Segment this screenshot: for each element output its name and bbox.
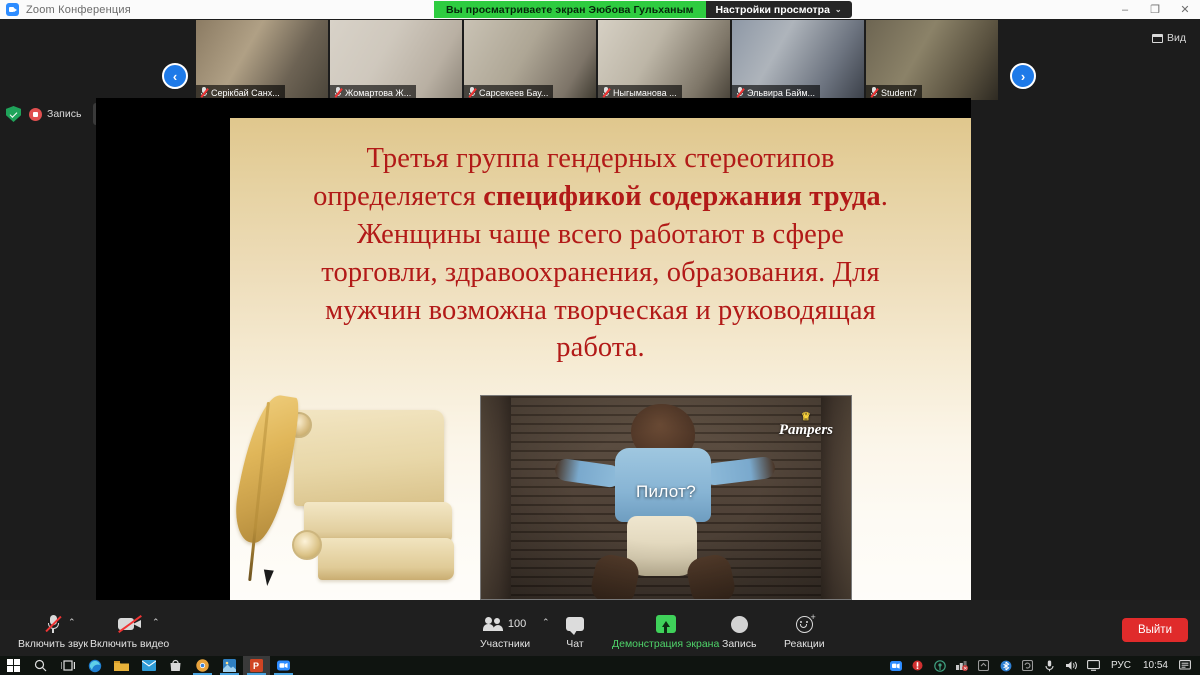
record-label: Запись [722, 638, 756, 650]
participant-name: Жомартова Ж... [345, 88, 411, 98]
bluetooth-tray-icon[interactable] [995, 656, 1017, 675]
zoom-meeting-window: Zoom Конференция – ❐ ✕ Вы просматриваете… [0, 0, 1200, 675]
language-indicator[interactable]: РУС [1105, 660, 1137, 671]
start-button[interactable] [0, 656, 27, 675]
slide-line-1: Третья группа гендерных стереотипов [254, 140, 947, 178]
file-explorer-icon[interactable] [108, 656, 135, 675]
chrome-icon[interactable] [189, 656, 216, 675]
alert-tray-icon[interactable] [907, 656, 929, 675]
update-tray-icon[interactable] [973, 656, 995, 675]
svg-text:✕: ✕ [963, 666, 967, 671]
mic-muted-icon [46, 613, 60, 635]
reactions-label: Реакции [784, 638, 825, 650]
mic-muted-icon [334, 87, 342, 98]
video-thumbnail[interactable]: Ныгыманова ... [598, 20, 730, 100]
record-circle-icon [731, 613, 748, 635]
slide-line-3: Женщины чаще всего работают в сфере [254, 216, 947, 254]
next-participants-button[interactable]: › [1010, 63, 1036, 89]
mic-muted-icon [602, 87, 610, 98]
mute-audio-button[interactable]: Включить звук [18, 613, 88, 650]
share-screen-icon [656, 613, 676, 635]
sync-tray-icon[interactable] [1017, 656, 1039, 675]
minimize-button[interactable]: – [1110, 0, 1140, 19]
participant-name: Серікбай Санх... [211, 88, 280, 98]
recording-label: Запись [47, 108, 81, 120]
close-button[interactable]: ✕ [1170, 0, 1200, 19]
participant-name: Эльвира Байм... [747, 88, 815, 98]
start-video-label: Включить видео [90, 638, 169, 650]
people-icon: 100 [484, 613, 526, 635]
slide-line-2-prefix: определяется [313, 181, 483, 212]
mute-audio-label: Включить звук [18, 638, 88, 650]
share-screen-button[interactable]: Демонстрация экрана [612, 613, 719, 650]
share-banner-message: Вы просматриваете экран Эюбова Гульханым [434, 1, 706, 18]
microsoft-store-icon[interactable] [162, 656, 189, 675]
slide-line-4: торговли, здравоохранения, образования. … [254, 254, 947, 292]
view-button-label: Вид [1167, 32, 1186, 44]
powerpoint-icon[interactable]: P [243, 656, 270, 675]
previous-participants-button[interactable]: ‹ [162, 63, 188, 89]
participants-count: 100 [508, 618, 526, 630]
slide-line-2-bold: спецификой содержания труда [483, 181, 880, 212]
shield-check-icon[interactable] [6, 106, 21, 122]
zoom-taskbar-icon[interactable] [270, 656, 297, 675]
edge-icon[interactable] [81, 656, 108, 675]
antivirus-tray-icon[interactable] [929, 656, 951, 675]
quill-and-scroll-icon [234, 388, 464, 612]
task-view-icon[interactable] [54, 656, 81, 675]
slide-line-6: работа. [254, 329, 947, 367]
notification-icon[interactable] [1174, 656, 1196, 675]
participant-name: Ныгыманова ... [613, 88, 677, 98]
window-title: Zoom Конференция [26, 4, 131, 16]
windows-taskbar: P ✕ [0, 656, 1200, 675]
network-tray-icon[interactable]: ✕ [951, 656, 973, 675]
participant-filmstrip[interactable]: Серікбай Санх... Жомартова Ж... Сарсекее… [196, 20, 1004, 100]
svg-text:P: P [253, 661, 259, 671]
slide-line-2: определяется спецификой содержания труда… [254, 178, 947, 216]
slide-line-2-suffix: . [881, 181, 888, 212]
participants-label: Участники [480, 638, 530, 650]
taskbar-clock[interactable]: 10:54 [1137, 660, 1174, 671]
display-tray-icon[interactable] [1083, 656, 1105, 675]
video-thumbnail[interactable]: Жомартова Ж... [330, 20, 462, 100]
system-tray: ✕ РУС 10:54 [885, 656, 1200, 675]
video-thumbnail[interactable]: Сарсекеев Бау... [464, 20, 596, 100]
mic-muted-icon [468, 87, 476, 98]
zoom-icon [6, 3, 19, 16]
video-options-chevron-up-icon[interactable]: ⌃ [152, 617, 160, 628]
share-screen-label: Демонстрация экрана [612, 638, 719, 650]
audio-options-chevron-up-icon[interactable]: ⌃ [68, 617, 76, 628]
search-icon[interactable] [27, 656, 54, 675]
pampers-logo: ♕ Pampers [779, 412, 833, 439]
meeting-toolbar: Включить звук ⌃ Включить видео ⌃ 100 Уча… [0, 600, 1200, 656]
mic-muted-icon [870, 87, 878, 98]
participant-name: Student7 [881, 88, 917, 98]
slide-embedded-image: Пилот? ♕ Pampers [480, 395, 852, 600]
view-options-button[interactable]: Настройки просмотра ⌄ [706, 1, 852, 18]
mic-muted-icon [200, 87, 208, 98]
smiley-plus-icon: + [796, 613, 813, 635]
camera-muted-icon [118, 613, 142, 635]
view-options-label: Настройки просмотра [716, 4, 830, 16]
shared-screen-stage[interactable]: Третья группа гендерных стереотипов опре… [96, 98, 971, 632]
screen-share-banner: Вы просматриваете экран Эюбова Гульханым… [434, 1, 852, 18]
grid-view-icon [1152, 34, 1163, 43]
zoom-tray-icon[interactable] [885, 656, 907, 675]
mail-icon[interactable] [135, 656, 162, 675]
chat-label: Чат [566, 638, 583, 650]
video-thumbnail[interactable]: Student7 [866, 20, 998, 100]
participants-chevron-up-icon[interactable]: ⌃ [542, 617, 550, 628]
scroll-bottom-shape [318, 538, 454, 580]
mic-muted-icon [736, 87, 744, 98]
microphone-tray-icon[interactable] [1039, 656, 1061, 675]
quill-feather-icon [238, 394, 300, 584]
video-thumbnail[interactable]: Эльвира Байм... [732, 20, 864, 100]
video-thumbnail[interactable]: Серікбай Санх... [196, 20, 328, 100]
quill-nib-shape [262, 570, 274, 587]
meeting-body: Вид Серікбай Санх... Жомартова Ж... [0, 19, 1200, 656]
chat-bubble-icon [566, 613, 584, 635]
image-caption: Пилот? [481, 482, 851, 502]
scroll-top-shape [294, 410, 444, 506]
volume-tray-icon[interactable] [1061, 656, 1083, 675]
chat-button[interactable]: Чат [566, 613, 584, 650]
record-button[interactable]: Запись [722, 613, 756, 650]
reactions-button[interactable]: + Реакции [784, 613, 825, 650]
presentation-slide: Третья группа гендерных стереотипов опре… [230, 118, 971, 612]
slide-body-text: Третья группа гендерных стереотипов опре… [254, 140, 947, 367]
recording-indicator-icon[interactable] [29, 108, 42, 121]
chevron-down-icon: ⌄ [835, 5, 842, 14]
photos-icon[interactable] [216, 656, 243, 675]
view-button[interactable]: Вид [1146, 29, 1192, 47]
leave-meeting-button[interactable]: Выйти [1122, 618, 1188, 642]
maximize-button[interactable]: ❐ [1140, 0, 1170, 19]
participants-button[interactable]: 100 Участники [480, 613, 530, 650]
participant-name: Сарсекеев Бау... [479, 88, 548, 98]
pampers-wordmark: Pampers [779, 422, 833, 438]
slide-line-5: мужчин возможна творческая и руководящая [254, 292, 947, 330]
